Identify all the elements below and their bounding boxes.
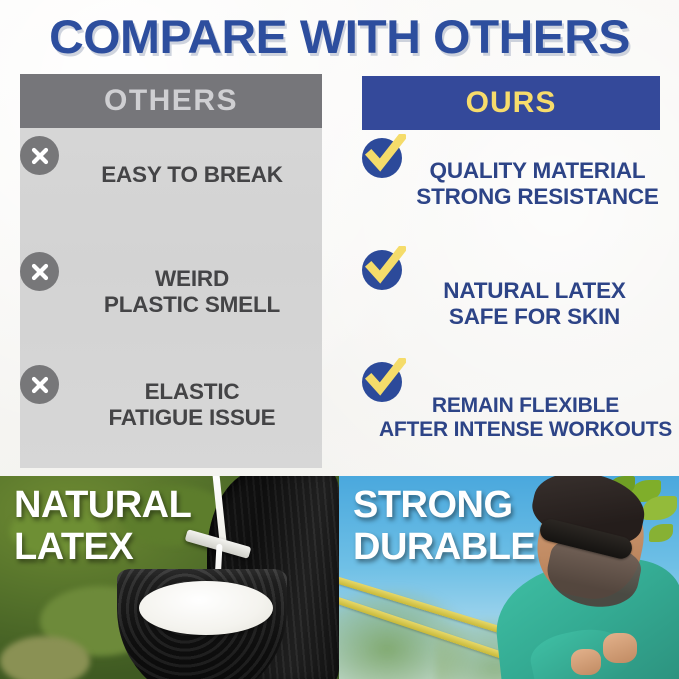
caption-line-2: LATEX bbox=[14, 528, 191, 566]
list-item-line: AFTER INTENSE WORKOUTS bbox=[372, 418, 679, 442]
check-mark-icon bbox=[362, 358, 406, 402]
list-item-line: PLASTIC SMELL bbox=[68, 292, 316, 318]
photo-caption-strong-durable: STRONG DURABLE bbox=[353, 486, 535, 566]
x-mark-icon bbox=[20, 252, 59, 291]
check-mark-icon bbox=[362, 246, 406, 290]
latex-liquid bbox=[139, 581, 273, 635]
check-mark-icon bbox=[362, 134, 406, 178]
photo-caption-natural-latex: NATURAL LATEX bbox=[14, 486, 191, 566]
others-header: OTHERS bbox=[20, 74, 322, 128]
athlete-hand-back bbox=[571, 649, 601, 675]
x-mark-icon bbox=[20, 365, 59, 404]
list-item-label: EASY TO BREAK bbox=[20, 136, 322, 188]
athlete-hand-front bbox=[603, 633, 637, 663]
list-item: ELASTIC FATIGUE ISSUE bbox=[20, 365, 322, 430]
list-item-label: QUALITY MATERIAL STRONG RESISTANCE bbox=[362, 134, 679, 209]
list-item-line: QUALITY MATERIAL bbox=[396, 158, 679, 184]
list-item-label: ELASTIC FATIGUE ISSUE bbox=[20, 365, 322, 430]
list-item: QUALITY MATERIAL STRONG RESISTANCE bbox=[362, 134, 679, 209]
x-mark-icon bbox=[20, 136, 59, 175]
ours-list: QUALITY MATERIAL STRONG RESISTANCE NATUR… bbox=[362, 130, 679, 470]
list-item-line: EASY TO BREAK bbox=[68, 162, 316, 188]
list-item-line: ELASTIC bbox=[68, 379, 316, 405]
ours-header: OURS bbox=[362, 76, 660, 130]
list-item-line: NATURAL LATEX bbox=[390, 278, 679, 304]
caption-line-1: NATURAL bbox=[14, 484, 191, 526]
list-item: NATURAL LATEX SAFE FOR SKIN bbox=[362, 246, 679, 329]
list-item-line: SAFE FOR SKIN bbox=[390, 304, 679, 330]
list-item-line: WEIRD bbox=[68, 266, 316, 292]
list-item-label: REMAIN FLEXIBLE AFTER INTENSE WORKOUTS bbox=[362, 358, 679, 442]
comparison-infographic: COMPARE WITH OTHERS OTHERS OURS EASY TO … bbox=[0, 0, 679, 679]
list-item-label: WEIRD PLASTIC SMELL bbox=[20, 252, 322, 317]
page-title: COMPARE WITH OTHERS bbox=[0, 9, 679, 64]
photo-strong-durable: STRONG DURABLE bbox=[339, 476, 679, 679]
list-item: EASY TO BREAK bbox=[20, 136, 322, 188]
photo-natural-latex: NATURAL LATEX bbox=[0, 476, 339, 679]
list-item: REMAIN FLEXIBLE AFTER INTENSE WORKOUTS bbox=[362, 358, 679, 442]
others-column-header-wrap: OTHERS bbox=[20, 74, 322, 128]
others-list: EASY TO BREAK WEIRD PLASTIC SMELL bbox=[20, 128, 322, 468]
list-item-line: FATIGUE ISSUE bbox=[68, 405, 316, 431]
photo-strip: NATURAL LATEX bbox=[0, 476, 679, 679]
list-item: WEIRD PLASTIC SMELL bbox=[20, 252, 322, 317]
caption-line-2: DURABLE bbox=[353, 528, 535, 566]
list-item-line: REMAIN FLEXIBLE bbox=[372, 394, 679, 418]
list-item-label: NATURAL LATEX SAFE FOR SKIN bbox=[362, 246, 679, 329]
caption-line-1: STRONG bbox=[353, 484, 513, 526]
list-item-line: STRONG RESISTANCE bbox=[396, 184, 679, 210]
ours-column-header-wrap: OURS bbox=[362, 76, 660, 130]
